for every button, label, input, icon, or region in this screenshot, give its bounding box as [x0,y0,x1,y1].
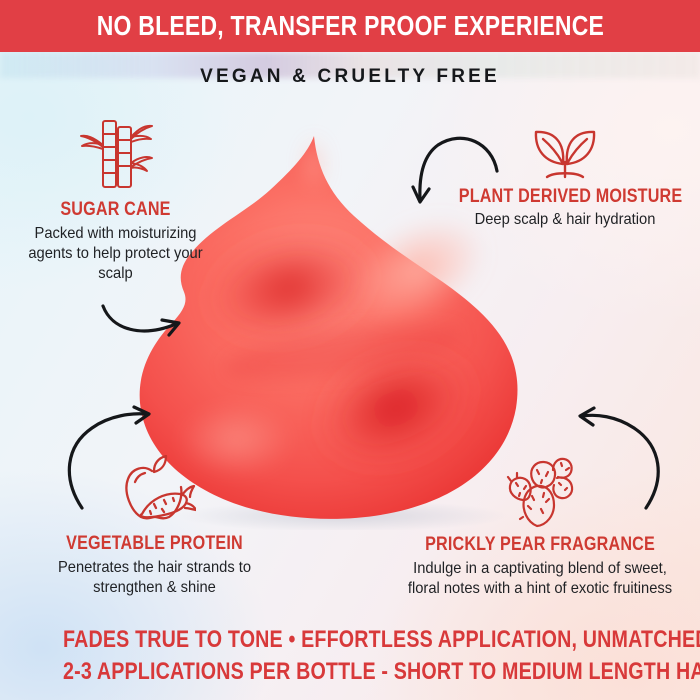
feature-sugar-cane: SUGAR CANE Packed with moisturizing agen… [8,115,223,284]
header-banner: NO BLEED, TRANSFER PROOF EXPERIENCE [0,0,700,52]
footer-claims: FADES TRUE TO TONE • EFFORTLESS APPLICAT… [0,624,700,688]
feature-body-vegetable-protein: Penetrates the hair strands to strengthe… [51,558,258,598]
feature-body-sugar-cane: Packed with moisturizing agents to help … [17,224,215,284]
feature-title-vegetable-protein: VEGETABLE PROTEIN [59,533,250,555]
feature-title-plant-derived-moisture: PLANT DERIVED MOISTURE [459,186,672,208]
feature-body-prickly-pear-fragrance: Indulge in a captivating blend of sweet,… [402,559,678,599]
dollop-highlight-tip [300,134,328,194]
footer-line-2: 2-3 APPLICATIONS PER BOTTLE - SHORT TO M… [63,656,637,688]
feature-title-prickly-pear-fragrance: PRICKLY PEAR FRAGRANCE [413,534,668,556]
product-benefits-infographic: NO BLEED, TRANSFER PROOF EXPERIENCE VEGA… [0,0,700,700]
footer-line-1: FADES TRUE TO TONE • EFFORTLESS APPLICAT… [63,624,637,656]
feature-plant-derived-moisture: PLANT DERIVED MOISTURE Deep scalp & hair… [440,120,690,230]
feature-body-plant-derived-moisture: Deep scalp & hair hydration [450,210,680,230]
feature-title-sugar-cane: SUGAR CANE [24,199,207,221]
header-banner-text: NO BLEED, TRANSFER PROOF EXPERIENCE [96,10,603,42]
apple-carrot-icon [114,455,196,529]
feature-prickly-pear-fragrance: PRICKLY PEAR FRAGRANCE Indulge in a capt… [390,452,690,599]
leaf-sprout-icon [529,120,601,182]
prickly-pear-cactus-icon [501,452,579,530]
vegan-cruelty-free-subtitle: VEGAN & CRUELTY FREE [0,66,700,88]
feature-vegetable-protein: VEGETABLE PROTEIN Penetrates the hair st… [42,455,267,598]
sugar-cane-icon [77,115,155,193]
